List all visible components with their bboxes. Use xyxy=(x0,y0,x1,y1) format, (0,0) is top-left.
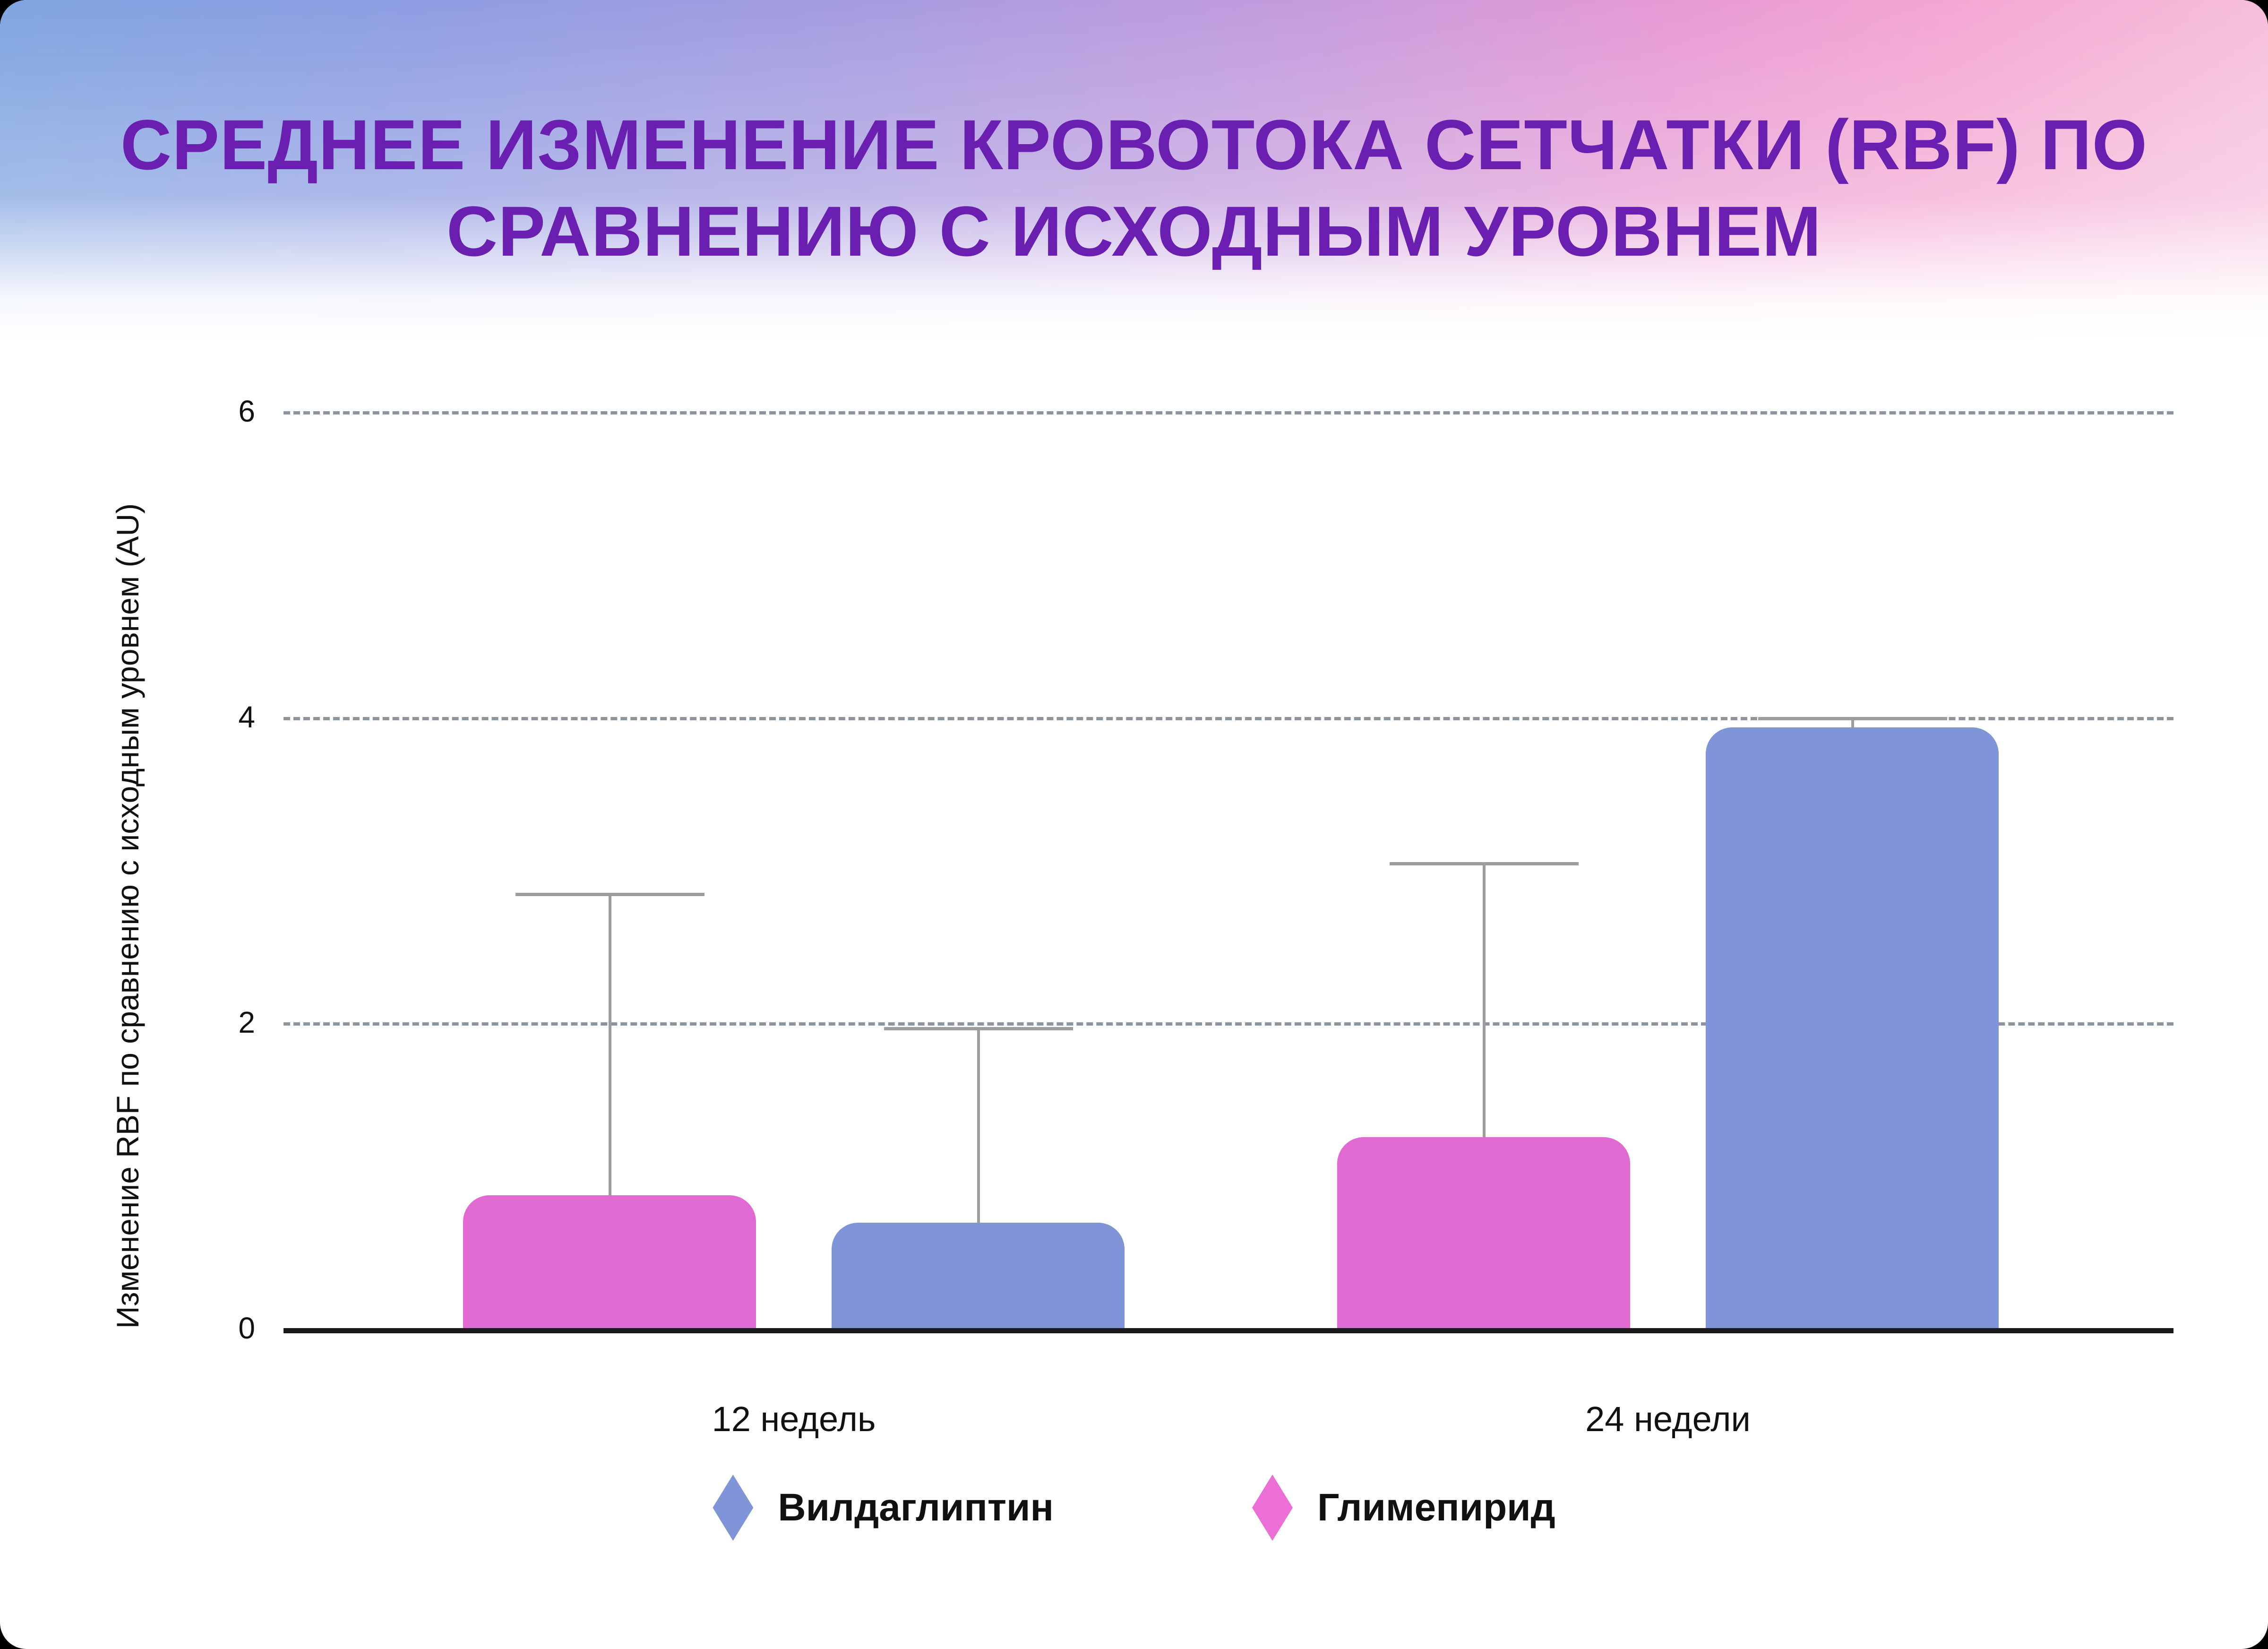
chart-container: Изменение RBF по сравнению с исходным ур… xyxy=(0,359,2268,1649)
bar-24w-glimepiride[interactable] xyxy=(1337,1137,1630,1328)
diamond-marker-icon xyxy=(713,1475,753,1541)
legend-label-glimepiride: Глимепирид xyxy=(1317,1485,1555,1530)
error-cap-24w-glimepiride xyxy=(1390,862,1579,865)
y-tick-0: 0 xyxy=(113,1311,255,1346)
error-bar-24w-glimepiride xyxy=(1483,862,1486,1137)
page-title: СРЕДНЕЕ ИЗМЕНЕНИЕ КРОВОТОКА СЕТЧАТКИ (RB… xyxy=(94,102,2173,275)
bar-24w-vildagliptin[interactable] xyxy=(1706,727,1999,1328)
error-cap-12w-vildagliptin xyxy=(884,1027,1073,1030)
chart-legend: Вилдаглиптин Глимепирид xyxy=(0,1475,2268,1541)
error-bar-12w-glimepiride xyxy=(609,893,611,1195)
slide-root: СРЕДНЕЕ ИЗМЕНЕНИЕ КРОВОТОКА СЕТЧАТКИ (RB… xyxy=(0,0,2268,1649)
error-cap-12w-glimepiride xyxy=(515,893,704,896)
legend-item-vildagliptin[interactable]: Вилдаглиптин xyxy=(713,1475,1054,1541)
y-tick-2: 2 xyxy=(113,1005,255,1040)
x-tick-24-weeks: 24 недели xyxy=(1455,1399,1881,1439)
bar-12w-vildagliptin[interactable] xyxy=(832,1223,1125,1328)
bar-12w-glimepiride[interactable] xyxy=(463,1195,756,1328)
y-axis-title: Изменение RBF по сравнению с исходным ур… xyxy=(110,429,146,1403)
y-tick-6: 6 xyxy=(113,394,255,429)
x-tick-12-weeks: 12 недель xyxy=(581,1399,1006,1439)
diamond-marker-icon xyxy=(1252,1475,1293,1541)
gridline-6 xyxy=(283,411,2173,414)
legend-label-vildagliptin: Вилдаглиптин xyxy=(778,1485,1054,1530)
x-axis-line xyxy=(283,1328,2173,1333)
plot-area: 6 4 2 0 12 недель 24 недели xyxy=(283,411,2173,1328)
legend-item-glimepiride[interactable]: Глимепирид xyxy=(1252,1475,1555,1541)
error-cap-24w-vildagliptin xyxy=(1758,717,1947,720)
error-bar-12w-vildagliptin xyxy=(977,1027,980,1223)
y-tick-4: 4 xyxy=(113,699,255,734)
